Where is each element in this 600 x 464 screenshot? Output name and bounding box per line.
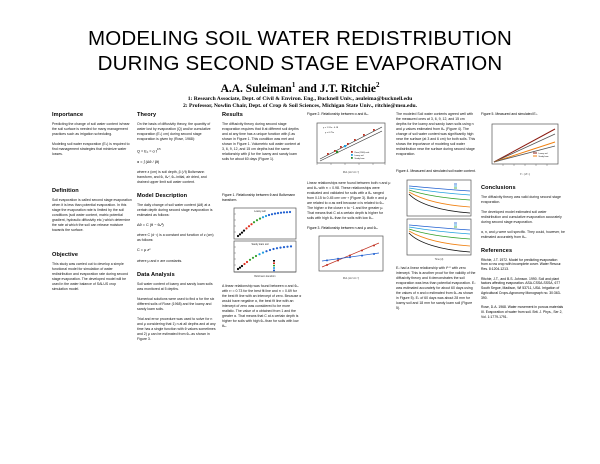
data-analysis-paragraph-3: Trial and error procedure was used to so… — [137, 317, 217, 342]
importance-paragraph-2: Modeling soil water evaporation (Eₖ) is … — [52, 142, 132, 157]
column-5: The modeled Soil water contents agreed w… — [396, 112, 476, 316]
figure-2-fit-equation-1: y = 1.31x - 0.18 — [323, 127, 339, 129]
figure-3: DUL (cm³ cm⁻³) — [307, 233, 391, 281]
poster-title-line-2: DURING SECOND STAGE EVAPORATION — [0, 51, 600, 76]
figure-2-svg: y = 1.31x - 0.18 y = 0.75x — [307, 120, 391, 176]
model-description-paragraph-1: The daily change of soil water content (… — [137, 203, 217, 218]
figure-4-xlabel: Time (d) — [435, 259, 444, 261]
reference-1: Ritchie, J.T. 1972. Model for predicting… — [481, 258, 565, 272]
figure-1-panel-b-label: Sandy loam soil — [252, 243, 269, 246]
author-list: A.A. Suleiman1 and J.T. Ritchie2 — [0, 79, 600, 96]
reference-3: Rose, D.A. 1968. Water movement in porou… — [481, 305, 565, 319]
column-2: Theory On the basis of diffusivity theor… — [137, 112, 217, 347]
column-1: Importance Predicting the change of soil… — [52, 112, 132, 297]
section-heading-data-analysis: Data Analysis — [137, 272, 217, 279]
poster-columns: Importance Predicting the change of soil… — [52, 112, 552, 458]
theory-paragraph-2: where z (cm) is soil depth, β (√t) Boltz… — [137, 170, 217, 185]
figure-2-xlabel: DUL (cm³ cm⁻³) — [343, 171, 359, 174]
figure-4-caption: Figure 4. Measured and simulated soil wa… — [396, 169, 476, 174]
spacer — [52, 238, 132, 252]
figure-4-panel-a-legend — [454, 184, 457, 188]
author-2-name: and J.T. Ritchie — [295, 83, 376, 95]
author-1-name: A.A. Suleiman — [221, 83, 292, 95]
results-paragraph-1: The diffusivity theory during second sta… — [222, 122, 302, 162]
data-analysis-paragraph-1: Soil water content of loamy and sandy lo… — [137, 282, 217, 292]
figure-2-legend: Rose (1968) soils Loamy soil Sandy loam — [351, 151, 369, 160]
svg-text:Rose (1968) soils: Rose (1968) soils — [355, 151, 370, 153]
spacer — [396, 162, 476, 169]
section-heading-theory: Theory — [137, 112, 217, 119]
section-heading-conclusions: Conclusions — [481, 185, 565, 192]
figure-2-fit-equation-2: y = 0.75x — [325, 132, 335, 134]
figure-4-svg: Time (d) — [396, 177, 476, 261]
spacer — [222, 167, 302, 193]
spacer — [52, 162, 132, 188]
affiliation-2: 2: Professor, Nowlin Chair, Dept. of Cro… — [0, 103, 600, 110]
column-3: Results The diffusivity theory during se… — [222, 112, 302, 334]
svg-text:Loamy soil: Loamy soil — [539, 152, 549, 154]
conclusions-paragraph-3: α, n, and μ were soil specific. They cou… — [481, 230, 565, 240]
figure-4: Time (d) — [396, 177, 476, 261]
conclusions-paragraph-1: The diffusivity theory was valid during … — [481, 195, 565, 205]
poster-root: MODELING SOIL WATER REDISTRIBUTION DURIN… — [0, 0, 600, 464]
model-description-paragraph-2: where C (d⁻¹) is a constant and function… — [137, 233, 217, 243]
figure-1-svg: Loamy soil — [222, 205, 302, 279]
theory-equation-1: Q = Eₛ = α t0.5 — [137, 147, 217, 155]
importance-paragraph-1: Predicting the change of soil water cont… — [52, 122, 132, 137]
theory-equation-1-text: Q = Eₛ = α t — [137, 149, 157, 153]
reference-2: Ritchie, J.T., and B.S. Johnson. 1990. S… — [481, 277, 565, 301]
poster-header: MODELING SOIL WATER REDISTRIBUTION DURIN… — [0, 0, 600, 111]
section-heading-model-description: Model Description — [137, 193, 217, 200]
figure-1-xlabel: Boltzmann transform — [254, 275, 275, 278]
poster-title-line-1: MODELING SOIL WATER REDISTRIBUTION — [0, 26, 600, 51]
figure-5-caption: Figure 5. Measured and simulated Eₛ. — [481, 112, 565, 117]
section-heading-importance: Importance — [52, 112, 132, 119]
conclusions-paragraph-2: The developed model estimated soil water… — [481, 210, 565, 225]
figure-1-panel-a-label: Loamy soil — [254, 210, 266, 213]
objective-paragraph-1: This study was carried out to develop a … — [52, 262, 132, 292]
results-paragraph-3: Linear relationships were found between … — [307, 181, 391, 221]
results-paragraph-2: A linear relationship was found between … — [222, 284, 302, 329]
data-analysis-paragraph-2: Numerical solutions were used to find α … — [137, 297, 217, 312]
figure-3-caption: Figure 3. Relationship between n and μ a… — [307, 226, 391, 231]
author-2-affiliation-marker: 2 — [376, 81, 380, 89]
results-paragraph-4: Eₛ had a linear relationship with t⁰⋅⁵ w… — [396, 266, 476, 311]
section-heading-references: References — [481, 248, 565, 255]
column-6: Figure 5. Measured and simulated Eₛ. Loa… — [481, 112, 565, 324]
section-heading-results: Results — [222, 112, 302, 119]
definition-paragraph-1: Soil evaporation is called second stage … — [52, 198, 132, 233]
figure-1-legend — [273, 260, 275, 271]
svg-text:Sandy loam: Sandy loam — [355, 157, 365, 159]
model-description-paragraph-3: where μ and n are constants. — [137, 259, 217, 264]
theory-equation-1-exponent: 0.5 — [157, 148, 161, 151]
figure-1: Loamy soil — [222, 205, 302, 279]
theory-paragraph-1: On the basis of diffusivity theory, the … — [137, 122, 217, 142]
model-equation-2: C = μ zᵛ — [137, 248, 217, 253]
theory-equation-2: α = ∫ (Δθ / βt) — [137, 160, 217, 165]
affiliation-1: 1: Research Associate, Dept. of Civil & … — [0, 96, 600, 103]
column-4: Figure 2. Relationship between α and θᵢᵤ… — [307, 112, 391, 286]
svg-text:Sandy loam: Sandy loam — [539, 155, 549, 157]
figure-5-svg: Loamy soil Sandy loam t⁰·⁵ (d⁰·⁵) — [481, 120, 565, 180]
figure-3-xlabel: DUL (cm³ cm⁻³) — [343, 277, 359, 280]
figure-2: y = 1.31x - 0.18 y = 0.75x — [307, 120, 391, 176]
figure-5-xlabel: t⁰·⁵ (d⁰·⁵) — [520, 172, 530, 176]
section-heading-definition: Definition — [52, 188, 132, 195]
figure-5: Loamy soil Sandy loam t⁰·⁵ (d⁰·⁵) — [481, 120, 565, 180]
model-equation-1: Δθ = C (θ − θₐᵈ) — [137, 223, 217, 228]
section-heading-objective: Objective — [52, 252, 132, 259]
figure-1-caption: Figure 1. Relationship between θ and Bol… — [222, 193, 302, 202]
figure-5-legend: Loamy soil Sandy loam — [533, 152, 549, 157]
results-paragraph-5: The modeled Soil water contents agreed w… — [396, 112, 476, 157]
figure-2-caption: Figure 2. Relationship between α and θᵢᵤ… — [307, 112, 391, 117]
figure-4-panel-b-legend — [454, 223, 457, 227]
svg-text:Loamy soil: Loamy soil — [355, 154, 365, 156]
figure-3-svg: DUL (cm³ cm⁻³) — [307, 233, 391, 281]
